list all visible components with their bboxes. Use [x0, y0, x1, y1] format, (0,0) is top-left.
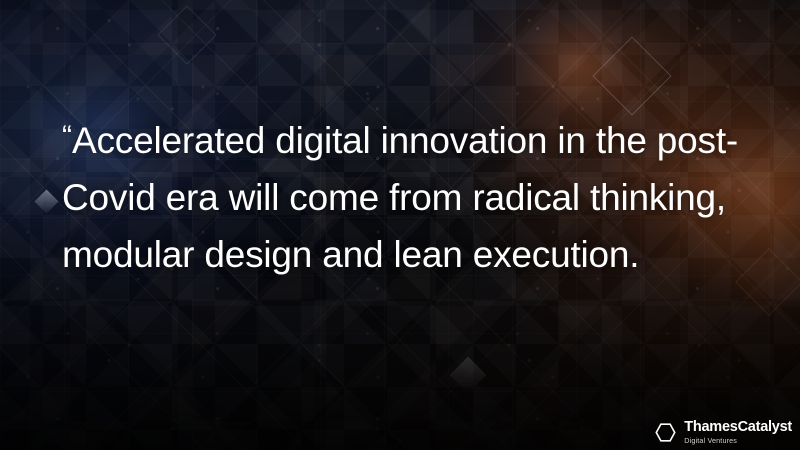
quote-slide: “Accelerated digital innovation in the p… [0, 0, 800, 450]
brand-logo: ThamesCatalyst Digital Ventures [654, 420, 792, 444]
quote-text: Accelerated digital innovation in the po… [62, 120, 738, 275]
decorative-diamond-outline [592, 36, 671, 115]
decorative-diamond-topleft [157, 5, 216, 64]
open-quote-mark: “ [62, 120, 72, 153]
hexagon-icon [654, 421, 677, 444]
decorative-diamond-warm [735, 248, 800, 316]
decorative-diamond-small [34, 189, 58, 213]
brand-tagline: Digital Ventures [684, 437, 792, 444]
quote-block: “Accelerated digital innovation in the p… [62, 108, 742, 283]
decorative-diamond-center [450, 357, 487, 394]
brand-name: ThamesCatalyst [684, 420, 792, 435]
brand-logo-text: ThamesCatalyst Digital Ventures [684, 420, 792, 444]
